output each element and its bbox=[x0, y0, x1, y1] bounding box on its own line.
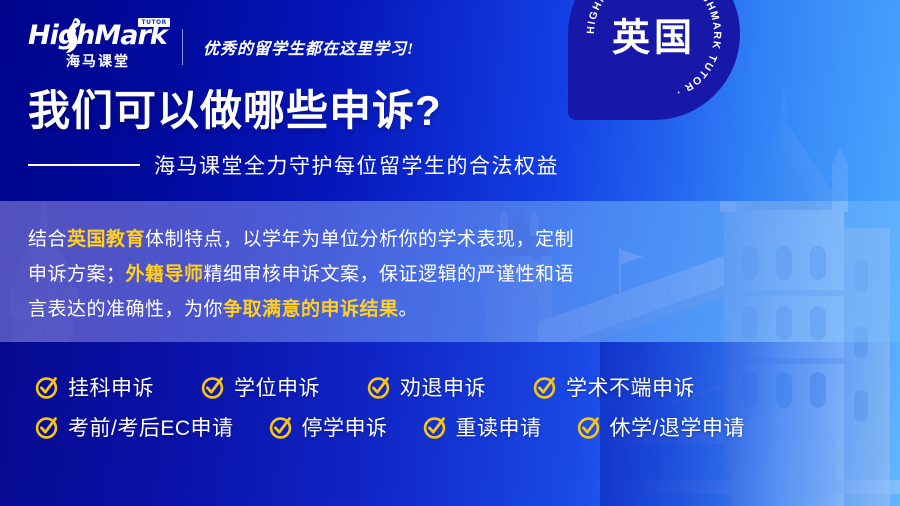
paragraph-text: 结合 bbox=[28, 229, 67, 250]
paragraph-text: 。 bbox=[399, 299, 419, 320]
promo-banner: HighMark TUTOR 海马课堂 优秀的留学生都在这里学习! HIGHMA… bbox=[0, 0, 900, 506]
service-tag[interactable]: 休学/退学申请 bbox=[576, 412, 745, 442]
seahorse-icon bbox=[64, 16, 82, 54]
service-tag-label: 劝退申诉 bbox=[400, 372, 486, 402]
check-circle-icon bbox=[576, 415, 601, 440]
service-tag-label: 休学/退学申请 bbox=[610, 412, 745, 442]
page-title: 我们可以做哪些申诉? bbox=[28, 88, 442, 134]
service-tag-label: 学术不端申诉 bbox=[566, 372, 695, 402]
service-tag[interactable]: 停学申诉 bbox=[268, 412, 388, 442]
service-tag[interactable]: 挂科申诉 bbox=[34, 372, 154, 402]
check-circle-icon bbox=[34, 415, 59, 440]
badge-country-label: 英国 bbox=[568, 7, 740, 62]
brand-logo[interactable]: HighMark TUTOR 海马课堂 bbox=[28, 22, 156, 71]
service-tag-label: 考前/考后EC申请 bbox=[68, 412, 234, 442]
description-paragraph: 结合英国教育体制特点，以学年为单位分析你的学术表现，定制申诉方案；外籍导师精细审… bbox=[28, 222, 588, 327]
header-divider bbox=[182, 29, 183, 65]
check-circle-icon bbox=[268, 415, 293, 440]
service-tag[interactable]: 学位申诉 bbox=[200, 372, 320, 402]
service-tag[interactable]: 重读申请 bbox=[422, 412, 542, 442]
check-circle-icon bbox=[200, 375, 225, 400]
brand-header: HighMark TUTOR 海马课堂 优秀的留学生都在这里学习! bbox=[28, 22, 414, 71]
check-circle-icon bbox=[366, 375, 391, 400]
check-circle-icon bbox=[422, 415, 447, 440]
subtitle: 海马课堂全力守护每位留学生的合法权益 bbox=[28, 150, 559, 180]
service-tag[interactable]: 考前/考后EC申请 bbox=[34, 412, 234, 442]
paragraph-highlight: 外籍导师 bbox=[126, 264, 204, 285]
service-tag-row: 挂科申诉学位申诉劝退申诉学术不端申诉 bbox=[34, 372, 745, 402]
check-circle-icon bbox=[532, 375, 557, 400]
service-tag-label: 重读申请 bbox=[456, 412, 542, 442]
paragraph-highlight: 争取满意的申诉结果 bbox=[223, 299, 399, 320]
service-tag-row: 考前/考后EC申请停学申诉重读申请休学/退学申请 bbox=[34, 412, 745, 442]
country-badge: HIGHMARK TUTOR · HIGHMARK TUTOR · 英国 bbox=[568, 0, 740, 120]
service-tag-label: 挂科申诉 bbox=[68, 372, 154, 402]
logo-wordmark: HighMark TUTOR bbox=[28, 22, 167, 50]
subtitle-rule bbox=[28, 164, 140, 166]
subtitle-text: 海马课堂全力守护每位留学生的合法权益 bbox=[154, 150, 559, 180]
service-tag-label: 学位申诉 bbox=[234, 372, 320, 402]
service-tag[interactable]: 劝退申诉 bbox=[366, 372, 486, 402]
paragraph-highlight: 英国教育 bbox=[67, 229, 145, 250]
check-circle-icon bbox=[34, 375, 59, 400]
logo-tutor-badge: TUTOR bbox=[138, 18, 169, 27]
service-tag[interactable]: 学术不端申诉 bbox=[532, 372, 695, 402]
service-tag-list: 挂科申诉学位申诉劝退申诉学术不端申诉考前/考后EC申请停学申诉重读申请休学/退学… bbox=[34, 372, 745, 442]
brand-slogan: 优秀的留学生都在这里学习! bbox=[203, 35, 414, 59]
service-tag-label: 停学申诉 bbox=[302, 412, 388, 442]
